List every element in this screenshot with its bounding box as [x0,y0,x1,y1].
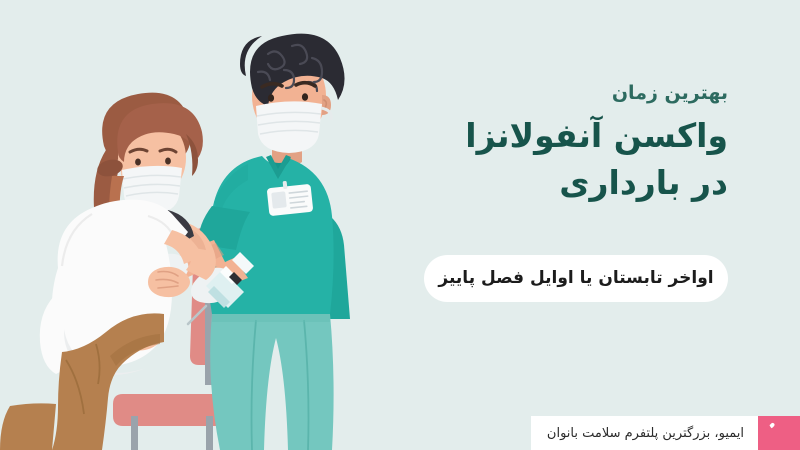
headline-line-2: در بارداری [328,160,728,207]
poster-canvas: بهترین زمان واکسن آنفولانزا در بارداری ا… [0,0,800,450]
headline-line-1: واکسن آنفولانزا [465,116,728,155]
eyebrow-text: بهترین زمان [328,82,728,106]
headline-block: بهترین زمان واکسن آنفولانزا در بارداری [328,82,728,206]
callout-text: اواخر تابستان یا اوایل فصل پاییز [438,270,713,287]
vaccination-illustration [0,0,440,450]
imeo-logo-badge: im [758,416,800,450]
footer-tagline-strip: ایمیو، بزرگترین پلتفرم سلامت بانوان [531,416,758,450]
callout-pill: اواخر تابستان یا اوایل فصل پاییز [424,255,728,302]
footer-bar: im ایمیو، بزرگترین پلتفرم سلامت بانوان [531,416,800,450]
svg-text:im: im [764,426,765,444]
headline-text: واکسن آنفولانزا در بارداری [328,113,728,207]
im-logo-icon: im [764,422,794,444]
footer-tagline: ایمیو، بزرگترین پلتفرم سلامت بانوان [547,427,744,440]
